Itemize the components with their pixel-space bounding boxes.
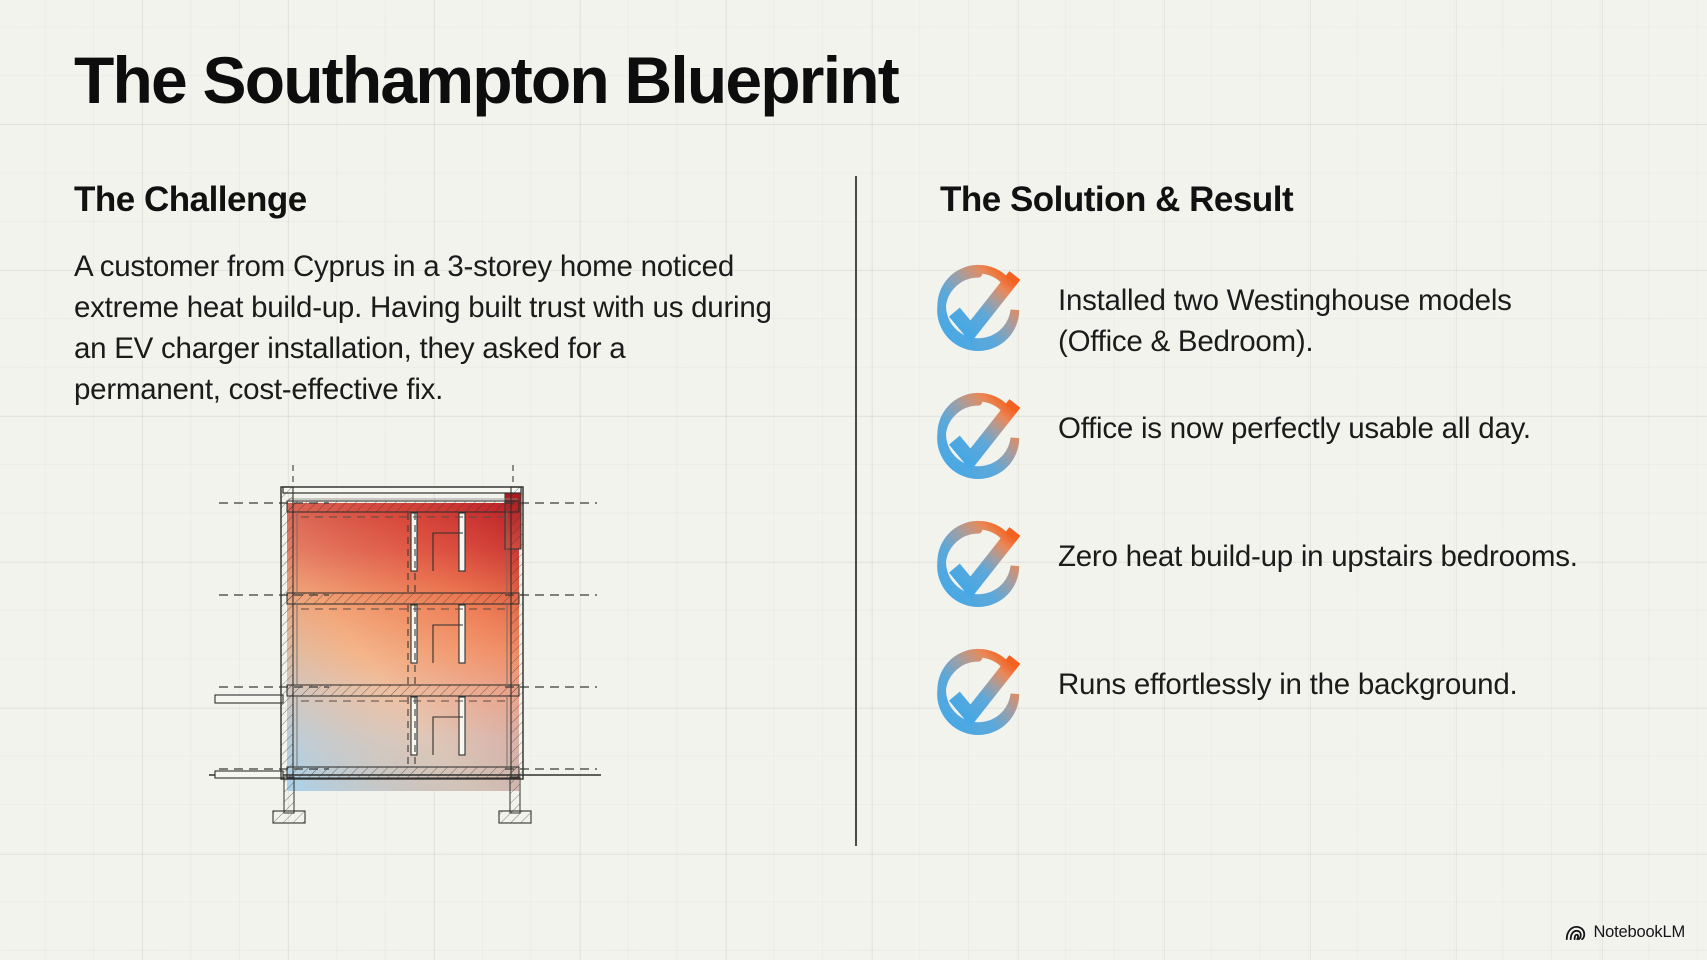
challenge-body-text: A customer from Cyprus in a 3-storey hom… — [74, 246, 774, 410]
notebooklm-icon — [1565, 925, 1586, 941]
list-item-label: Office is now perfectly usable all day. — [1058, 390, 1531, 449]
house-section-svg — [205, 455, 605, 840]
notebooklm-wordmark: NotebookLM — [1593, 923, 1685, 942]
check-circle-icon — [922, 384, 1030, 492]
list-item-label: Runs effortlessly in the background. — [1058, 646, 1517, 705]
house-section-diagram — [205, 455, 605, 840]
list-item-label: Installed two Westinghouse models (Offic… — [1058, 262, 1578, 362]
list-item-label: Zero heat build-up in upstairs bedrooms. — [1058, 518, 1578, 577]
check-circle-icon — [922, 256, 1030, 364]
list-item: Installed two Westinghouse models (Offic… — [940, 262, 1640, 366]
list-item: Runs effortlessly in the background. — [940, 646, 1640, 750]
roof-slab — [283, 487, 521, 493]
thermal-gradient-fill — [287, 503, 519, 791]
list-item: Zero heat build-up in upstairs bedrooms. — [940, 518, 1640, 622]
column-divider — [855, 176, 857, 846]
challenge-heading: The Challenge — [74, 180, 814, 220]
notebooklm-attribution: NotebookLM — [1565, 923, 1685, 942]
external-sill-projection — [215, 695, 283, 778]
solution-column: The Solution & Result — [940, 180, 1640, 750]
solution-bullet-list: Installed two Westinghouse models (Offic… — [940, 262, 1640, 750]
axis-tick-marks — [293, 465, 513, 487]
slide-canvas: The Southampton Blueprint The Challenge … — [0, 0, 1707, 960]
challenge-column: The Challenge A customer from Cyprus in … — [74, 180, 814, 410]
list-item: Office is now perfectly usable all day. — [940, 390, 1640, 494]
page-title: The Southampton Blueprint — [74, 42, 898, 118]
check-circle-icon — [922, 512, 1030, 620]
check-circle-icon — [922, 640, 1030, 748]
solution-heading: The Solution & Result — [940, 180, 1640, 220]
